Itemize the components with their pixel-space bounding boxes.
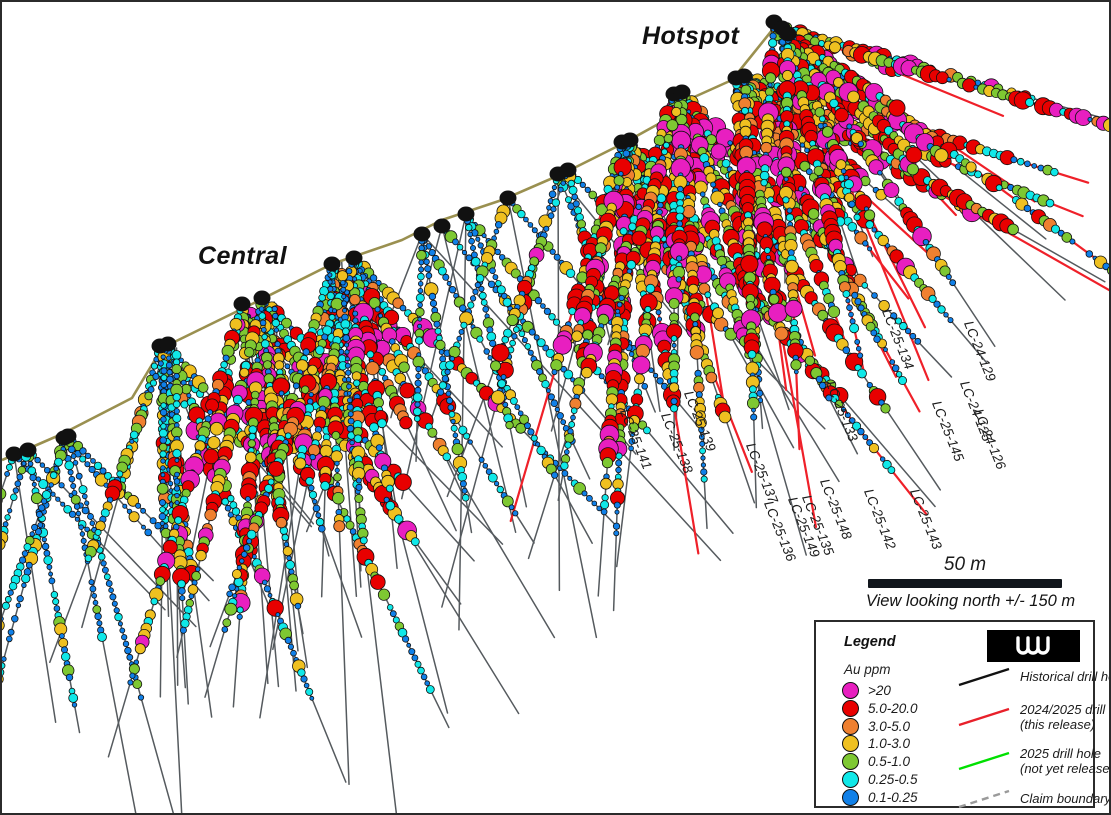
view-orientation-note: View looking north +/- 150 m <box>848 592 1093 611</box>
au-class-row: 0.1-0.25 <box>842 789 918 806</box>
line-class-label: Historical drill holes <box>1020 669 1111 684</box>
scale-bar-group: 50 m <box>868 554 1062 588</box>
line-class-sample-icon <box>956 788 1012 810</box>
au-class-label: 0.1-0.25 <box>868 790 918 805</box>
au-class-swatch-icon <box>842 771 859 788</box>
au-class-row: 3.0-5.0 <box>842 718 910 735</box>
scale-bar <box>868 579 1062 588</box>
line-class-sample-icon <box>956 750 1012 772</box>
line-class-row: Historical drill holes <box>956 666 1111 688</box>
line-class-label: Claim boundary <box>1020 791 1111 806</box>
au-class-label: >20 <box>868 683 891 698</box>
line-class-sample-icon <box>956 666 1012 688</box>
au-class-label: 0.25-0.5 <box>868 772 918 787</box>
line-class-label: 2025 drill hole(not yet released) <box>1020 746 1111 777</box>
au-class-swatch-icon <box>842 753 859 770</box>
au-class-label: 5.0-20.0 <box>868 701 918 716</box>
au-class-swatch-icon <box>842 735 859 752</box>
scale-bar-label: 50 m <box>868 554 1062 576</box>
legend-panel: Legend Au ppm >205.0-20.03.0-5.01.0-3.00… <box>814 620 1095 808</box>
company-logo <box>987 630 1080 662</box>
au-class-label: 3.0-5.0 <box>868 719 910 734</box>
au-ppm-title: Au ppm <box>844 662 891 677</box>
line-class-sample-icon <box>956 706 1012 728</box>
au-class-swatch-icon <box>842 718 859 735</box>
au-class-swatch-icon <box>842 682 859 699</box>
au-class-swatch-icon <box>842 700 859 717</box>
line-class-row: 2025 drill hole(not yet released) <box>956 746 1111 777</box>
area-label-central: Central <box>198 242 287 271</box>
au-class-row: 5.0-20.0 <box>842 700 918 717</box>
line-class-label: 2024/2025 drill hole(this release) <box>1020 702 1111 733</box>
legend-title: Legend <box>844 634 896 650</box>
area-label-hotspot: Hotspot <box>642 22 739 51</box>
au-class-swatch-icon <box>842 789 859 806</box>
drillhole-section-figure: Central Hotspot LC-25-141LC-25-139LC-25-… <box>0 0 1111 815</box>
au-class-row: >20 <box>842 682 891 699</box>
line-class-row: Claim boundary <box>956 788 1111 810</box>
au-class-row: 1.0-3.0 <box>842 735 910 752</box>
au-class-row: 0.5-1.0 <box>842 753 910 770</box>
au-class-label: 0.5-1.0 <box>868 754 910 769</box>
line-class-row: 2024/2025 drill hole(this release) <box>956 702 1111 733</box>
au-class-label: 1.0-3.0 <box>868 736 910 751</box>
au-class-row: 0.25-0.5 <box>842 771 918 788</box>
logo-glyph-icon <box>1013 635 1055 657</box>
